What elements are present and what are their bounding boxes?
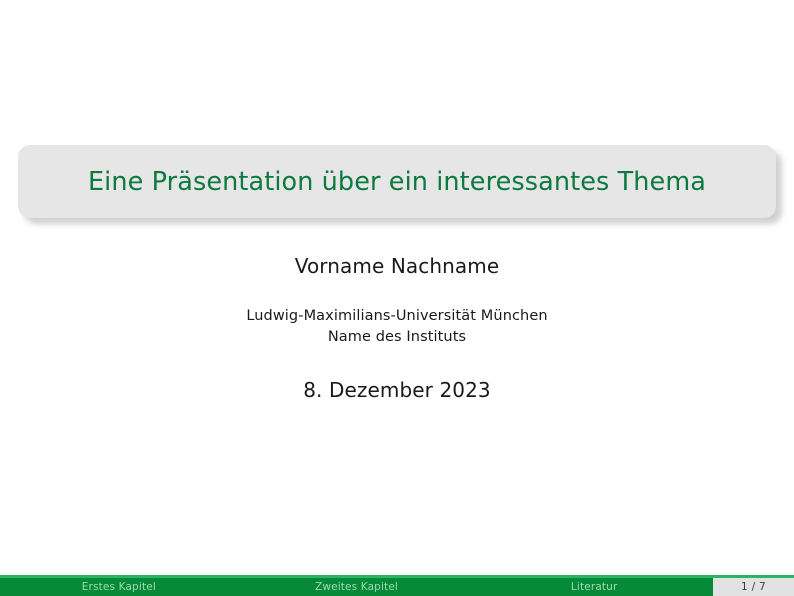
institute-university: Ludwig-Maximilians-Universität München — [0, 306, 794, 327]
presentation-slide: Eine Präsentation über ein interessantes… — [0, 0, 794, 596]
slide-footer: Erstes Kapitel Zweites Kapitel Literatur… — [0, 575, 794, 596]
presentation-date: 8. Dezember 2023 — [0, 376, 794, 404]
footer-navigation-bar: Erstes Kapitel Zweites Kapitel Literatur — [0, 578, 713, 596]
title-block-panel: Eine Präsentation über ein interessantes… — [18, 145, 776, 218]
footer-section-erstes-kapitel[interactable]: Erstes Kapitel — [0, 578, 238, 596]
footer-section-zweites-kapitel[interactable]: Zweites Kapitel — [238, 578, 476, 596]
title-metadata: Vorname Nachname Ludwig-Maximilians-Univ… — [0, 252, 794, 404]
footer-section-literatur[interactable]: Literatur — [475, 578, 713, 596]
institute-block: Ludwig-Maximilians-Universität München N… — [0, 306, 794, 348]
institute-department: Name des Instituts — [0, 327, 794, 348]
page-title: Eine Präsentation über ein interessantes… — [88, 167, 706, 197]
page-number-indicator: 1 / 7 — [713, 578, 794, 596]
title-block: Eine Präsentation über ein interessantes… — [18, 145, 776, 218]
author-name: Vorname Nachname — [0, 252, 794, 280]
